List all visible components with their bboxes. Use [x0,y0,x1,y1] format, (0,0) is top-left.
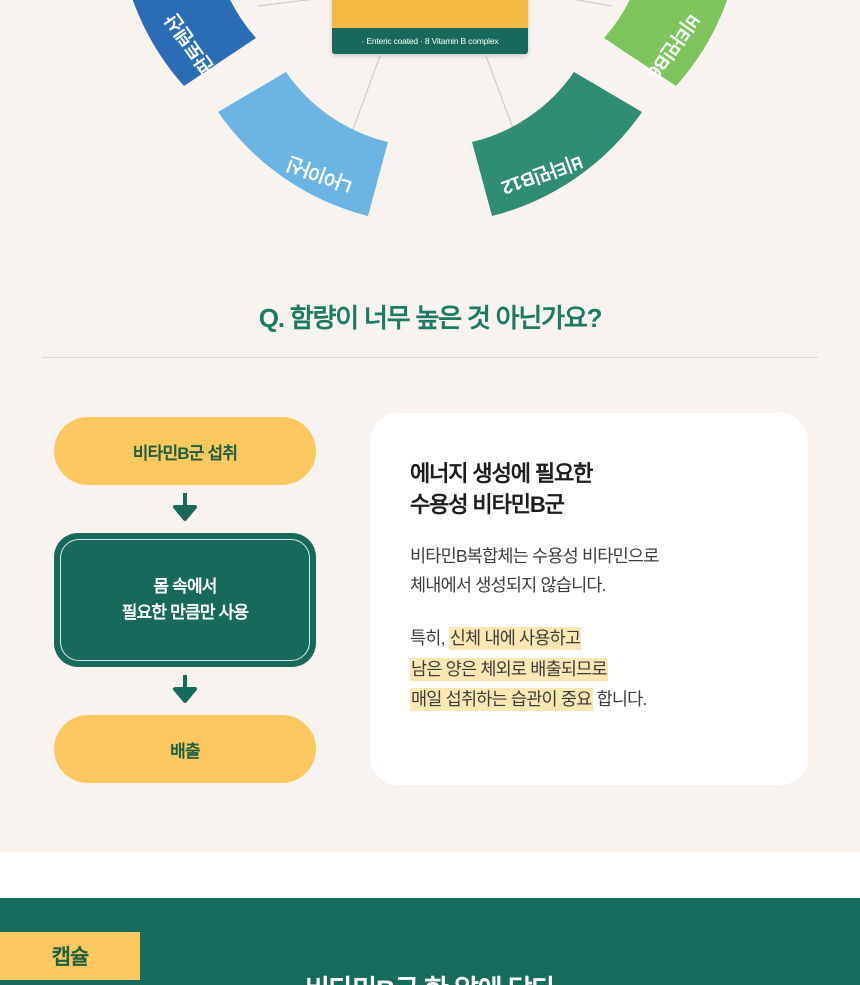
flow-step-usage-label: 몸 속에서 필요한 만큼만 사용 [122,574,249,627]
product-package: 컨오렐르 비타민B 건강기능식품 15g (500mg X 30캡슐) · En… [332,0,528,54]
flow-step-usage-line2: 필요한 만큼만 사용 [122,603,249,622]
flow-step-intake-label: 비타민B군 섭취 [133,439,237,464]
arrow-down-icon [172,493,198,525]
flow-step-intake: 비타민B군 섭취 [54,417,316,485]
info-card-title-line1: 에너지 생성에 필요한 [410,461,592,486]
product-detail-page: 판토텐산 나이아신 비타민B12 비타민B6 컨오렐르 비타민B 건강기능식품 … [0,0,860,985]
flow-step-excretion-label: 배출 [170,737,200,762]
bottom-headline: 비타민B군 한 알에 담다 [0,973,860,985]
capsule-badge-label: 캡슐 [52,941,89,971]
info-card-title-line2: 수용성 비타민B군 [410,492,564,517]
flow-arrow-down-icon-1 [54,485,316,533]
section-divider [42,357,818,358]
question-text: 함량이 너무 높은 것 아닌가요? [290,303,601,333]
paragraph2-highlight-1: 신체 내에 사용하고 [449,627,582,650]
paragraph2-suffix: 합니다. [597,689,647,709]
white-separator-band [0,852,860,898]
paragraph2-highlight-3: 매일 섭취하는 습관이 중요 [410,688,593,711]
question-prefix: Q. [259,303,284,333]
paragraph1-line2: 체내에서 생성되지 않습니다. [410,575,606,595]
info-card-title: 에너지 생성에 필요한 수용성 비타민B군 [410,458,772,520]
flow-step-excretion: 배출 [54,715,316,783]
paragraph2-prefix: 특히, [410,628,445,648]
paragraph1-line1: 비타민B복합체는 수용성 비타민으로 [410,546,659,566]
package-feature-strip: · Enteric coated · 8 Vitamin B complex [332,28,528,54]
paragraph2-highlight-2: 남은 양은 체외로 배출되므로 [410,658,608,681]
absorption-flow-diagram: 비타민B군 섭취 몸 속에서 필요한 만큼만 사용 배출 [54,417,316,783]
arc-segment-niacin [218,72,388,216]
arc-segment-b12 [472,72,642,216]
info-card-paragraph-1: 비타민B복합체는 수용성 비타민으로 체내에서 생성되지 않습니다. [410,542,772,599]
flow-arrow-down-icon-2 [54,667,316,715]
hero-arc-infographic: 판토텐산 나이아신 비타민B12 비타민B6 컨오렐르 비타민B 건강기능식품 … [0,0,860,262]
question-heading: Q. 함량이 너무 높은 것 아닌가요? [0,298,860,335]
info-card-paragraph-2: 특히, 신체 내에 사용하고 남은 양은 체외로 배출되므로 매일 섭취하는 습… [410,623,772,714]
flow-step-usage-line1: 몸 속에서 [153,577,216,596]
arrow-down-icon [172,675,198,707]
flow-step-usage: 몸 속에서 필요한 만큼만 사용 [54,533,316,667]
info-card: 에너지 생성에 필요한 수용성 비타민B군 비타민B복합체는 수용성 비타민으로… [370,413,808,785]
